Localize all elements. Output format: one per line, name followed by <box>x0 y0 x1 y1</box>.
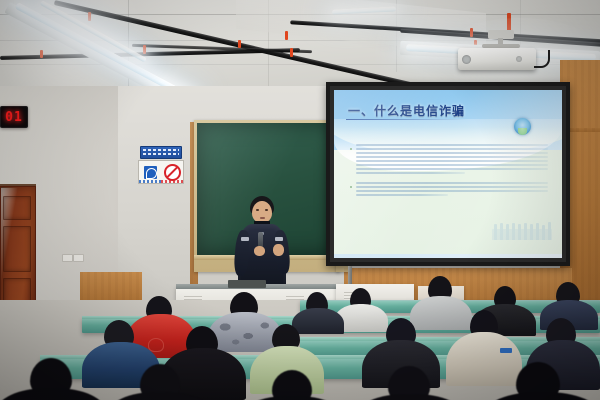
monitor-screen <box>228 280 266 288</box>
student-silhouette <box>484 392 600 400</box>
no-smoking-sign <box>161 161 183 183</box>
police-formation-watermark <box>492 220 552 244</box>
wall-outlet <box>62 254 73 262</box>
accessible-seating-sign <box>139 161 161 183</box>
shoulder-badge <box>275 237 283 241</box>
presenter-head <box>252 201 272 223</box>
presentation-slide: 一、什么是电信诈骗 <box>334 90 562 258</box>
student-silhouette <box>240 396 344 400</box>
student-dark-top <box>292 308 344 334</box>
wall-outlet <box>73 254 84 262</box>
slide-paragraph <box>356 182 548 198</box>
foreground-audience-row <box>0 340 600 400</box>
student-silhouette <box>356 394 464 400</box>
presenter-hand <box>273 244 284 256</box>
led-wall-clock: 01 <box>0 106 28 128</box>
projection-screen: 一、什么是电信诈骗 <box>334 90 562 258</box>
blue-notice-banner <box>140 146 182 159</box>
student-silhouette <box>108 392 212 400</box>
student-silhouette <box>0 388 106 400</box>
slide-title: 一、什么是电信诈骗 <box>348 102 465 119</box>
no-smoking-icon <box>164 164 181 181</box>
police-shield-emblem <box>514 118 531 135</box>
shoulder-badge <box>241 237 249 241</box>
wheelchair-icon <box>144 166 157 179</box>
wall-sign-pair <box>138 160 184 184</box>
classroom-photo: 01 一、什么是电信诈骗 <box>0 0 600 400</box>
student-grey-sweater <box>410 296 472 330</box>
presenter-hand <box>254 246 265 256</box>
clock-digits: 01 <box>5 110 23 125</box>
ceiling <box>0 0 600 88</box>
slide-paragraph <box>356 144 548 176</box>
